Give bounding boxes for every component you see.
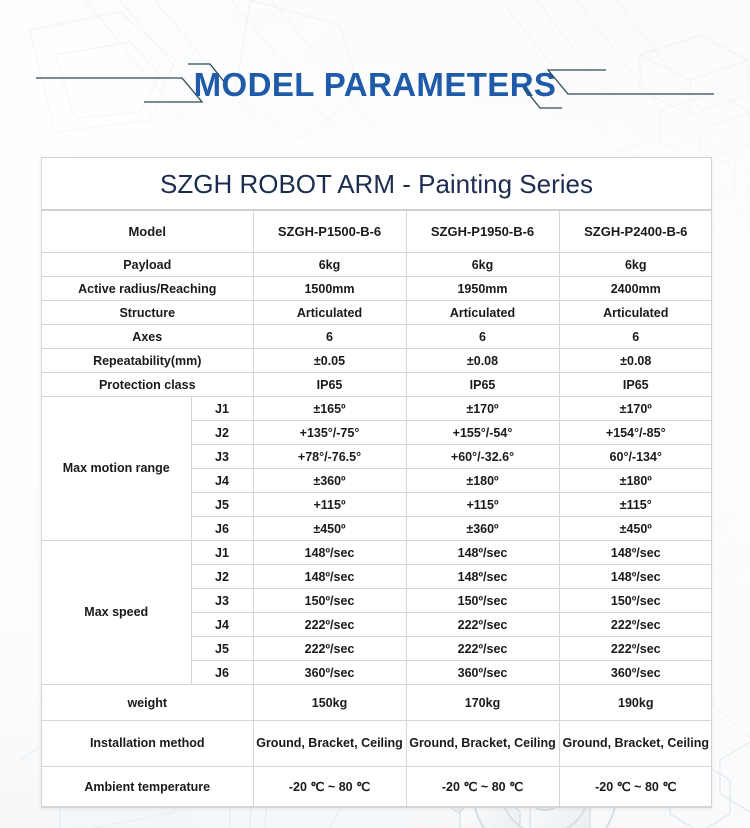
value-cell: ±450º <box>559 517 712 541</box>
value-cell: ±360º <box>253 469 406 493</box>
row-label: Structure <box>42 301 253 325</box>
model-cell-3: SZGH-P2400-B-6 <box>559 211 712 253</box>
value-cell: -20 ℃ ~ 80 ℃ <box>406 767 559 807</box>
value-cell: 190kg <box>559 685 712 721</box>
row-label: Payload <box>42 253 253 277</box>
joint-label: J6 <box>191 661 253 685</box>
value-cell: 6kg <box>406 253 559 277</box>
row-label: Axes <box>42 325 253 349</box>
value-cell: 150º/sec <box>406 589 559 613</box>
value-cell: Ground, Bracket, Ceiling <box>253 721 406 767</box>
table-row-model: Model SZGH-P1500-B-6 SZGH-P1950-B-6 SZGH… <box>42 211 712 253</box>
joint-label: J4 <box>191 613 253 637</box>
value-cell: 148º/sec <box>559 565 712 589</box>
value-cell: +115º <box>406 493 559 517</box>
value-cell: 2400mm <box>559 277 712 301</box>
row-label: Ambient temperature <box>42 767 253 807</box>
value-cell: +60°/-32.6° <box>406 445 559 469</box>
row-label: Active radius/Reaching <box>42 277 253 301</box>
value-cell: 150º/sec <box>559 589 712 613</box>
row-label: Model <box>42 211 253 253</box>
value-cell: 150kg <box>253 685 406 721</box>
table-row-axes: Axes 6 6 6 <box>42 325 712 349</box>
value-cell: 222º/sec <box>253 613 406 637</box>
value-cell: 222º/sec <box>253 637 406 661</box>
value-cell: ±180º <box>559 469 712 493</box>
value-cell: ±0.08 <box>406 349 559 373</box>
value-cell: ±0.08 <box>559 349 712 373</box>
value-cell: +115º <box>253 493 406 517</box>
value-cell: ±165º <box>253 397 406 421</box>
value-cell: Articulated <box>406 301 559 325</box>
value-cell: 148º/sec <box>559 541 712 565</box>
row-label: Installation method <box>42 721 253 767</box>
value-cell: 6 <box>559 325 712 349</box>
joint-label: J4 <box>191 469 253 493</box>
value-cell: 222º/sec <box>406 637 559 661</box>
group-label-max-speed: Max speed <box>42 541 191 685</box>
value-cell: 170kg <box>406 685 559 721</box>
joint-label: J2 <box>191 565 253 589</box>
value-cell: 148º/sec <box>253 565 406 589</box>
value-cell: 360º/sec <box>406 661 559 685</box>
value-cell: ±170º <box>559 397 712 421</box>
value-cell: 222º/sec <box>406 613 559 637</box>
joint-label: J3 <box>191 445 253 469</box>
value-cell: Ground, Bracket, Ceiling <box>559 721 712 767</box>
value-cell: +154°/-85° <box>559 421 712 445</box>
value-cell: +155°/-54° <box>406 421 559 445</box>
value-cell: -20 ℃ ~ 80 ℃ <box>253 767 406 807</box>
header-decoration-right <box>524 62 714 110</box>
value-cell: 148º/sec <box>253 541 406 565</box>
table-row-protection-class: Protection class IP65 IP65 IP65 <box>42 373 712 397</box>
value-cell: 1950mm <box>406 277 559 301</box>
value-cell: IP65 <box>406 373 559 397</box>
table-body: Model SZGH-P1500-B-6 SZGH-P1950-B-6 SZGH… <box>42 211 712 807</box>
value-cell: 148º/sec <box>406 541 559 565</box>
model-cell-2: SZGH-P1950-B-6 <box>406 211 559 253</box>
table-row-repeatability: Repeatability(mm) ±0.05 ±0.08 ±0.08 <box>42 349 712 373</box>
row-label: Protection class <box>42 373 253 397</box>
value-cell: ±450º <box>253 517 406 541</box>
row-label: Repeatability(mm) <box>42 349 253 373</box>
value-cell: 6kg <box>253 253 406 277</box>
value-cell: IP65 <box>559 373 712 397</box>
value-cell: +78°/-76.5° <box>253 445 406 469</box>
table-row-payload: Payload 6kg 6kg 6kg <box>42 253 712 277</box>
table-row-motion-j1: Max motion range J1 ±165º ±170º ±170º <box>42 397 712 421</box>
value-cell: 1500mm <box>253 277 406 301</box>
table-row-structure: Structure Articulated Articulated Articu… <box>42 301 712 325</box>
value-cell: 6kg <box>559 253 712 277</box>
value-cell: +135°/-75° <box>253 421 406 445</box>
table-row-active-radius: Active radius/Reaching 1500mm 1950mm 240… <box>42 277 712 301</box>
table-row-speed-j1: Max speed J1 148º/sec 148º/sec 148º/sec <box>42 541 712 565</box>
value-cell: 6 <box>253 325 406 349</box>
value-cell: 222º/sec <box>559 637 712 661</box>
value-cell: IP65 <box>253 373 406 397</box>
value-cell: 6 <box>406 325 559 349</box>
joint-label: J5 <box>191 493 253 517</box>
value-cell: 222º/sec <box>559 613 712 637</box>
value-cell: 148º/sec <box>406 565 559 589</box>
joint-label: J3 <box>191 589 253 613</box>
spec-card: SZGH ROBOT ARM - Painting Series Model S… <box>41 157 712 808</box>
value-cell: Articulated <box>559 301 712 325</box>
group-label-max-motion-range: Max motion range <box>42 397 191 541</box>
joint-label: J2 <box>191 421 253 445</box>
joint-label: J5 <box>191 637 253 661</box>
value-cell: 60°/-134° <box>559 445 712 469</box>
model-parameters-table: Model SZGH-P1500-B-6 SZGH-P1950-B-6 SZGH… <box>42 210 712 807</box>
value-cell: 360º/sec <box>253 661 406 685</box>
value-cell: 360º/sec <box>559 661 712 685</box>
value-cell: ±0.05 <box>253 349 406 373</box>
value-cell: ±170º <box>406 397 559 421</box>
value-cell: 150º/sec <box>253 589 406 613</box>
value-cell: Articulated <box>253 301 406 325</box>
joint-label: J1 <box>191 541 253 565</box>
row-label: weight <box>42 685 253 721</box>
model-cell-1: SZGH-P1500-B-6 <box>253 211 406 253</box>
value-cell: ±115° <box>559 493 712 517</box>
spec-card-title: SZGH ROBOT ARM - Painting Series <box>42 158 711 210</box>
value-cell: ±360º <box>406 517 559 541</box>
value-cell: ±180º <box>406 469 559 493</box>
value-cell: Ground, Bracket, Ceiling <box>406 721 559 767</box>
value-cell: -20 ℃ ~ 80 ℃ <box>559 767 712 807</box>
table-row-installation-method: Installation method Ground, Bracket, Cei… <box>42 721 712 767</box>
page-header: MODEL PARAMETERS <box>0 62 750 118</box>
joint-label: J6 <box>191 517 253 541</box>
table-row-ambient-temperature: Ambient temperature -20 ℃ ~ 80 ℃ -20 ℃ ~… <box>42 767 712 807</box>
table-row-weight: weight 150kg 170kg 190kg <box>42 685 712 721</box>
joint-label: J1 <box>191 397 253 421</box>
